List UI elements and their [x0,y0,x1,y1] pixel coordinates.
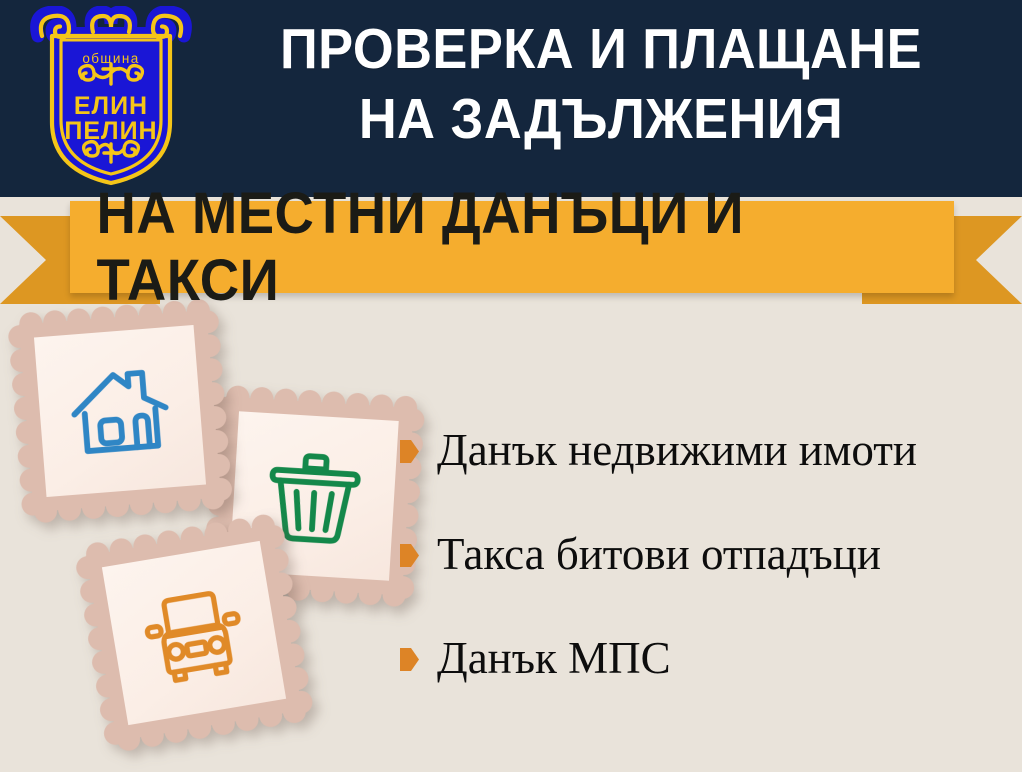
arrow-right-pentagon-icon [400,544,419,567]
list-item[interactable]: Такса битови отпадъци [400,528,1010,580]
crest-name-line2: ПЕЛИН [64,117,157,145]
ribbon-main-panel: НА МЕСТНИ ДАНЪЦИ И ТАКСИ [70,201,954,293]
poster-canvas: община ЕЛИН ПЕЛИН [0,0,1022,772]
stamp-card-car [72,511,316,755]
list-item[interactable]: Данък недвижими имоти [400,424,1010,476]
list-item-label: Данък недвижими имоти [437,424,917,476]
car-icon [102,541,286,725]
crest-name-line1: ЕЛИН [74,92,148,120]
stamp-card-house [6,297,234,525]
arrow-right-pentagon-icon [400,440,419,463]
header-bar: община ЕЛИН ПЕЛИН [0,0,1022,197]
coat-of-arms-icon: община ЕЛИН ПЕЛИН [30,6,192,188]
ribbon-text: НА МЕСТНИ ДАНЪЦИ И ТАКСИ [97,201,928,293]
tax-types-list: Данък недвижими имоти Такса битови отпад… [400,424,1010,684]
list-item-label: Данък МПС [437,632,671,684]
list-item-label: Такса битови отпадъци [437,528,881,580]
arrow-right-pentagon-icon [400,648,419,671]
house-icon [34,325,206,497]
list-item[interactable]: Данък МПС [400,632,1010,684]
page-title: ПРОВЕРКА И ПЛАЩАНЕ НА ЗАДЪЛЖЕНИЯ [225,14,978,154]
stamp-card-group [0,300,420,772]
ribbon-banner: НА МЕСТНИ ДАНЪЦИ И ТАКСИ [0,197,1022,307]
